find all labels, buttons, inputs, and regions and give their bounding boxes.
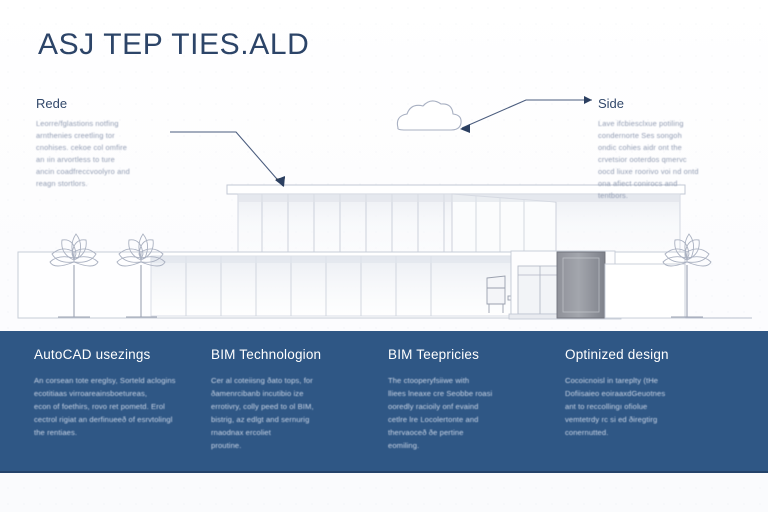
feature-line: errotivry, colly peed to ol BIM, [211, 400, 368, 413]
feature-title: AutoCAD usezings [34, 347, 191, 362]
feature-column-autocad: AutoCAD usezings An corsean tote ereglsy… [34, 347, 211, 473]
feature-body: Cocoicnoisl in tareplty (tHe Dofiisaieo … [565, 374, 722, 439]
feature-body: An corsean tote ereglsy, Sorteld aclogin… [34, 374, 191, 439]
bottom-bar-bottom-edge [0, 471, 768, 473]
feature-line: cetlre lre Locolertonte and [388, 413, 545, 426]
callout-line: Leorre/fglastions notfing [36, 118, 188, 130]
feature-line: Cocoicnoisl in tareplty (tHe [565, 374, 722, 387]
callout-line: ona afiect conirocs and [598, 178, 748, 190]
door-panel-icon [557, 252, 605, 318]
feature-line: ooredly racioily onf evaind [388, 400, 545, 413]
feature-line: thervaoceð ðe pertine [388, 426, 545, 439]
page-title: ASJ TEP TIES.ALD [38, 28, 309, 62]
feature-line: cectrol rigiat an derfinueeð of esrvtoli… [34, 413, 191, 426]
feature-title: BIM Technologion [211, 347, 368, 362]
feature-line: Dofiisaieo eoiraaxdGeuotnes [565, 387, 722, 400]
feature-line: vemtetrdy rc si ed ðirеgtirg [565, 413, 722, 426]
bottom-feature-bar: AutoCAD usezings An corsean tote ereglsy… [0, 331, 768, 473]
feature-line: lliees lneaxe cre Seobbe roasi [388, 387, 545, 400]
feature-line: An corsean tote ereglsy, Sorteld aclogin… [34, 374, 191, 387]
callout-line: tentbors. [598, 190, 748, 202]
feature-line: bistrig, az edlgt and sernurig [211, 413, 368, 426]
feature-line: econ of foethirs, rovo ret pometd. Erol [34, 400, 191, 413]
feature-title: Optinized design [565, 347, 722, 362]
feature-line: ðamenrcibanb incutibio ize [211, 387, 368, 400]
feature-title: BIM Teepricies [388, 347, 545, 362]
callout-right-heading: Side [598, 96, 748, 111]
feature-column-bim-properties: BIM Teepricies The ctooperyfsiiwe with l… [388, 347, 565, 473]
callout-left-body: Leorre/fglastions notfing arnthenies cre… [36, 118, 188, 190]
feature-line: rnaodnax ercoliet [211, 426, 368, 439]
callout-line: an ıin arvortless to ture [36, 154, 188, 166]
callout-line: arnthenies creetling tor [36, 130, 188, 142]
feature-line: The ctooperyfsiiwe with [388, 374, 545, 387]
callout-line: Lave ifcbiesclxue potiling [598, 118, 748, 130]
callout-line: ancin сoadfreccvoolyro and [36, 166, 188, 178]
feature-line: Cer al coteiisng ðato tops, for [211, 374, 368, 387]
callout-left-heading: Rede [36, 96, 188, 111]
feature-column-optimized-design: Optinized design Cocoicnoisl in tareplty… [565, 347, 742, 473]
callout-line: crvetsior ooterdos qmervc [598, 154, 748, 166]
feature-line: ecotitiaas virroareainsboetureas, [34, 387, 191, 400]
callout-line: cnohises. cekoe col omfire [36, 142, 188, 154]
callout-left: Rede Leorre/fglastions notfing arnthenie… [36, 96, 188, 190]
presentation-slide: ASJ TEP TIES.ALD [0, 0, 768, 512]
callout-line: oocd liuxe roorivo voi nd ontd [598, 166, 748, 178]
feature-line: the rentiaes. [34, 426, 191, 439]
callout-line: condernorte Ses songoh [598, 130, 748, 142]
callout-right-body: Lave ifcbiesclxue potiling condernorte S… [598, 118, 748, 202]
cloud-icon [397, 101, 461, 130]
feature-body: The ctooperyfsiiwe with lliees lneaxe cr… [388, 374, 545, 452]
feature-column-bim-technology: BIM Technologion Cer al coteiisng ðato t… [211, 347, 388, 473]
feature-line: conernutted. [565, 426, 722, 439]
callout-line: reagn stortlors. [36, 178, 188, 190]
feature-line: ant to reccollingı ofiolue [565, 400, 722, 413]
feature-body: Cer al coteiisng ðato tops, for ðamenrci… [211, 374, 368, 452]
feature-line: eomiling. [388, 439, 545, 452]
callout-line: ondic cohies aidr ont the [598, 142, 748, 154]
feature-line: proutine. [211, 439, 368, 452]
callout-right: Side Lave ifcbiesclxue potiling conderno… [598, 96, 748, 202]
